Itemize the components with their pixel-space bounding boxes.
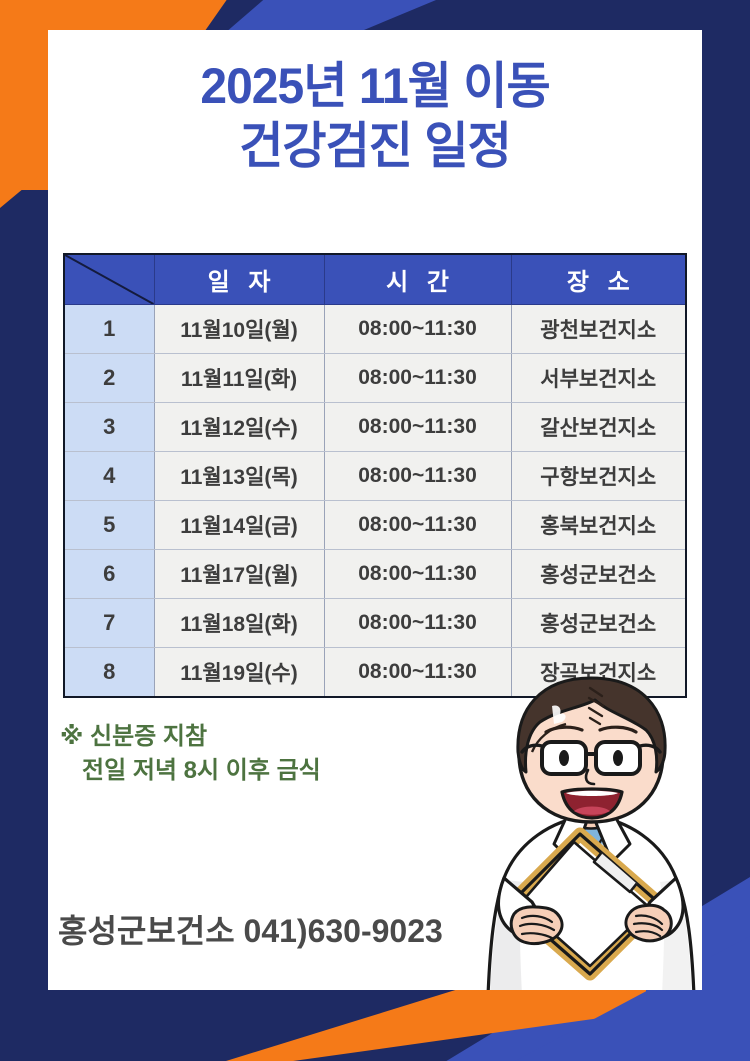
doctor-with-clipboard-icon — [462, 666, 702, 990]
table-body: 1 11월10일(월) 08:00~11:30 광천보건지소 2 11월11일(… — [64, 305, 686, 698]
poster-root: 2025년 11월 이동 건강검진 일정 일 자 시 간 장 — [0, 0, 750, 1061]
column-header-date: 일 자 — [154, 254, 324, 305]
table-row: 7 11월18일(화) 08:00~11:30 홍성군보건소 — [64, 599, 686, 648]
row-time: 08:00~11:30 — [324, 599, 511, 648]
poster-card: 2025년 11월 이동 건강검진 일정 일 자 시 간 장 — [48, 30, 702, 990]
row-date: 11월10일(월) — [154, 305, 324, 354]
row-index: 7 — [64, 599, 154, 648]
row-place: 광천보건지소 — [511, 305, 686, 354]
notice-line-1: 신분증 지참 — [90, 723, 207, 750]
deco-orange-left-tip — [0, 168, 48, 208]
row-place: 홍북보건지소 — [511, 501, 686, 550]
table-row: 2 11월11일(화) 08:00~11:30 서부보건지소 — [64, 354, 686, 403]
row-time: 08:00~11:30 — [324, 305, 511, 354]
table-row: 3 11월12일(수) 08:00~11:30 갈산보건지소 — [64, 403, 686, 452]
row-index: 6 — [64, 550, 154, 599]
row-time: 08:00~11:30 — [324, 550, 511, 599]
row-place: 서부보건지소 — [511, 354, 686, 403]
row-place: 갈산보건지소 — [511, 403, 686, 452]
table-row: 5 11월14일(금) 08:00~11:30 홍북보건지소 — [64, 501, 686, 550]
diagonal-slash-icon — [65, 255, 154, 304]
row-time: 08:00~11:30 — [324, 403, 511, 452]
table-header: 일 자 시 간 장 소 — [64, 254, 686, 305]
table-row: 1 11월10일(월) 08:00~11:30 광천보건지소 — [64, 305, 686, 354]
row-place: 홍성군보건소 — [511, 599, 686, 648]
notice-marker-icon: ※ — [60, 723, 83, 750]
row-date: 11월14일(금) — [154, 501, 324, 550]
row-date: 11월13일(목) — [154, 452, 324, 501]
row-date: 11월12일(수) — [154, 403, 324, 452]
row-date: 11월11일(화) — [154, 354, 324, 403]
row-date: 11월17일(월) — [154, 550, 324, 599]
row-place: 홍성군보건소 — [511, 550, 686, 599]
row-index: 2 — [64, 354, 154, 403]
row-index: 8 — [64, 648, 154, 698]
row-index: 4 — [64, 452, 154, 501]
row-date: 11월18일(화) — [154, 599, 324, 648]
column-header-place: 장 소 — [511, 254, 686, 305]
row-date: 11월19일(수) — [154, 648, 324, 698]
deco-orange-left-band — [0, 0, 48, 190]
table-row: 4 11월13일(목) 08:00~11:30 구항보건지소 — [64, 452, 686, 501]
row-time: 08:00~11:30 — [324, 354, 511, 403]
table-corner-cell — [64, 254, 154, 305]
table-header-row: 일 자 시 간 장 소 — [64, 254, 686, 305]
row-time: 08:00~11:30 — [324, 452, 511, 501]
column-header-time: 시 간 — [324, 254, 511, 305]
row-index: 3 — [64, 403, 154, 452]
row-time: 08:00~11:30 — [324, 501, 511, 550]
row-index: 1 — [64, 305, 154, 354]
table-row: 6 11월17일(월) 08:00~11:30 홍성군보건소 — [64, 550, 686, 599]
notice-block: ※ 신분증 지참 전일 저녁 8시 이후 금식 — [60, 720, 321, 788]
row-place: 구항보건지소 — [511, 452, 686, 501]
schedule-table: 일 자 시 간 장 소 1 11월10일(월) 08:00~11:30 광천보건… — [63, 253, 687, 698]
notice-line-2: 전일 저녁 8시 이후 금식 — [60, 754, 321, 788]
contact-footer: 홍성군보건소 041)630-9023 — [58, 906, 443, 952]
page-title: 2025년 11월 이동 건강검진 일정 — [61, 56, 689, 176]
row-index: 5 — [64, 501, 154, 550]
